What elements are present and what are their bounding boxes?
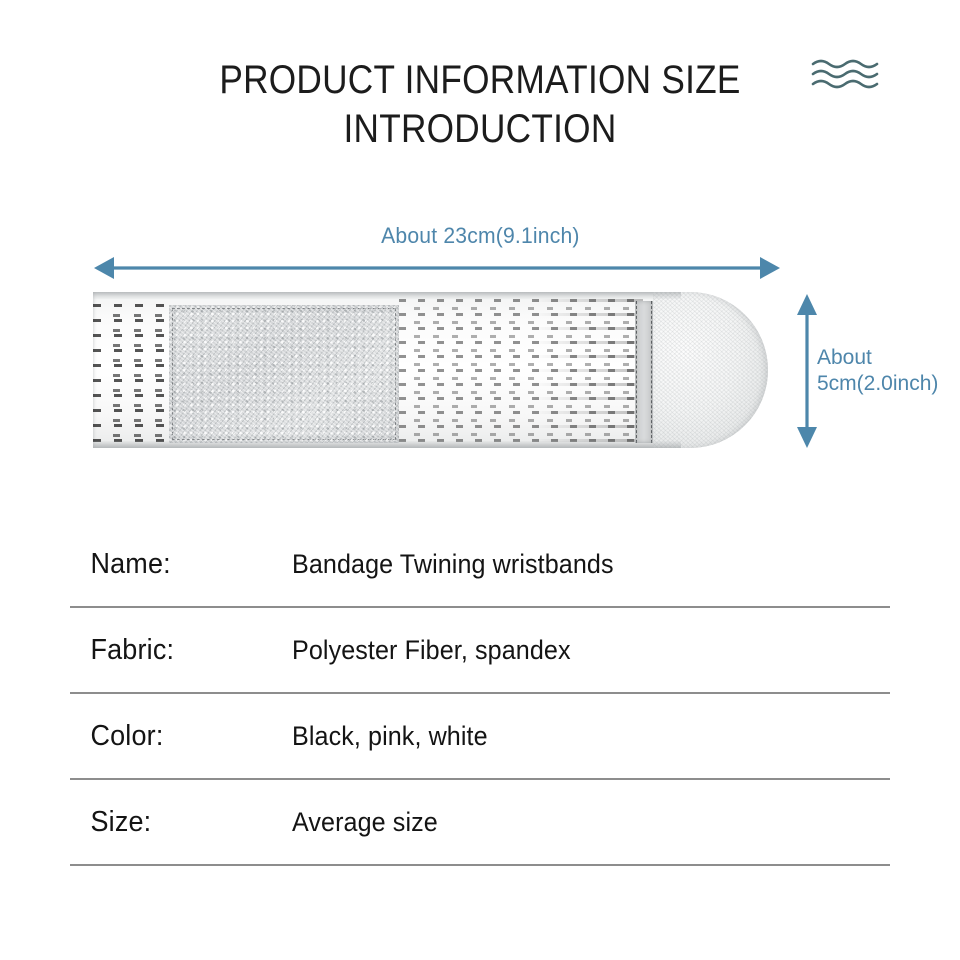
spec-label-fabric: Fabric:: [70, 634, 276, 667]
strap-edge-top: [93, 292, 681, 299]
spec-value-name: Bandage Twining wristbands: [292, 549, 848, 580]
page-title-line-2: INTRODUCTION: [58, 105, 903, 154]
spec-value-color: Black, pink, white: [292, 721, 848, 752]
table-row: Fabric: Polyester Fiber, spandex: [70, 608, 890, 694]
length-dimension-label: About 23cm(9.1inch): [0, 223, 960, 249]
velcro-texture: [169, 305, 399, 443]
rounded-end-cap: [653, 292, 768, 448]
mesh-shadow-gradient: [533, 298, 643, 442]
table-row: Size: Average size: [70, 780, 890, 866]
end-cap-texture: [653, 292, 768, 448]
wristband-strap: [93, 292, 768, 448]
spec-label-name: Name:: [70, 548, 276, 581]
double-headed-arrow-horizontal-icon: [92, 254, 782, 282]
spec-value-size: Average size: [292, 807, 848, 838]
strap-edge-bottom: [93, 441, 681, 448]
width-dimension-text-line-2: 5cm(2.0inch): [817, 371, 957, 397]
spec-value-fabric: Polyester Fiber, spandex: [292, 635, 848, 666]
table-row: Name: Bandage Twining wristbands: [70, 522, 890, 608]
velcro-loop-patch: [169, 305, 399, 443]
specification-table: Name: Bandage Twining wristbands Fabric:…: [70, 522, 890, 866]
spec-label-color: Color:: [70, 720, 276, 753]
table-row: Color: Black, pink, white: [70, 694, 890, 780]
wave-lines-icon: [810, 58, 884, 92]
spec-label-size: Size:: [70, 806, 276, 839]
page-title-line-1: PRODUCT INFORMATION SIZE: [58, 56, 903, 105]
mesh-perforation-left-offset: [103, 305, 171, 437]
product-image: [90, 288, 772, 454]
width-dimension-label: About 5cm(2.0inch): [817, 345, 957, 397]
width-dimension-text-line-1: About: [817, 345, 957, 371]
length-dimension-text: About 23cm(9.1inch): [381, 223, 580, 249]
stitched-seam: [635, 301, 653, 443]
